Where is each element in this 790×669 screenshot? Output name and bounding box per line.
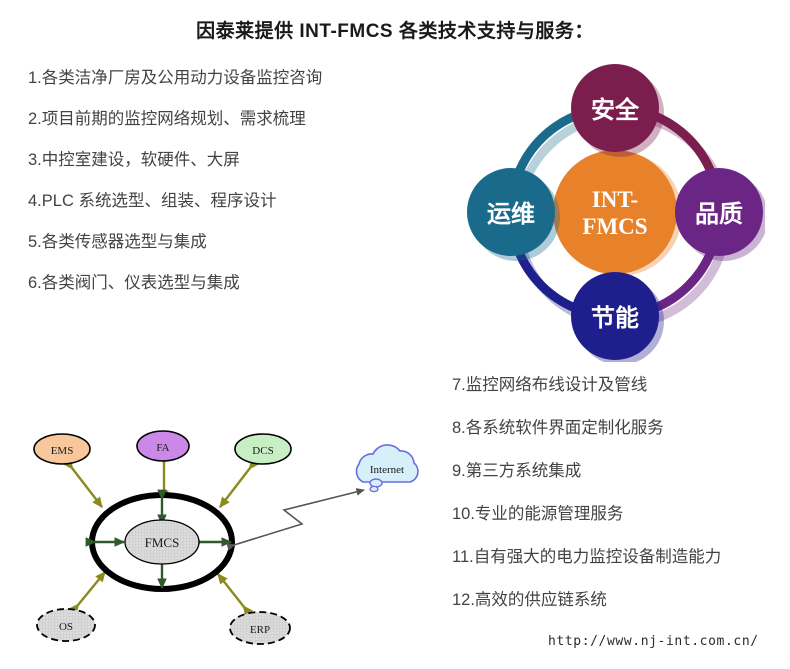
diagram-node-os[interactable]: OS bbox=[37, 609, 95, 641]
arrow-erp bbox=[218, 574, 244, 607]
watermark-url: http://www.nj-int.com.cn/ bbox=[548, 634, 759, 649]
circle-node-pinzhi[interactable]: 品质 bbox=[675, 168, 765, 261]
list-item: 11.自有强大的电力监控设备制造能力 bbox=[452, 547, 782, 568]
list-item: 2.项目前期的监控网络规划、需求梳理 bbox=[28, 109, 428, 130]
diagram-node-ems[interactable]: EMS bbox=[34, 434, 90, 464]
service-list-left: 1.各类洁净厂房及公用动力设备监控咨询 2.项目前期的监控网络规划、需求梳理 3… bbox=[28, 68, 428, 314]
list-item: 4.PLC 系统选型、组装、程序设计 bbox=[28, 191, 428, 212]
diagram-node-dcs[interactable]: DCS bbox=[235, 434, 291, 464]
circle-node-label: 节能 bbox=[591, 304, 639, 332]
list-item: 12.高效的供应链系统 bbox=[452, 590, 782, 611]
service-list-right: 7.监控网络布线设计及管线 8.各系统软件界面定制化服务 9.第三方系统集成 1… bbox=[452, 375, 782, 633]
diagram-node-label: DCS bbox=[252, 445, 273, 457]
list-item: 5.各类传感器选型与集成 bbox=[28, 232, 428, 253]
internet-cloud-icon: Internet bbox=[356, 445, 417, 492]
center-label-line1: INT- bbox=[592, 187, 638, 212]
diagram-node-label: ERP bbox=[250, 624, 270, 636]
diagram-node-label: EMS bbox=[51, 445, 74, 457]
arrow-os bbox=[78, 572, 105, 605]
arrow-internet-link bbox=[234, 490, 364, 545]
circle-node-jieneng[interactable]: 节能 bbox=[571, 272, 664, 362]
page-root: 因泰莱提供 INT-FMCS 各类技术支持与服务： 1.各类洁净厂房及公用动力设… bbox=[0, 0, 790, 669]
list-item: 9.第三方系统集成 bbox=[452, 461, 782, 482]
arrow-ems bbox=[72, 468, 102, 507]
circle-node-anquan[interactable]: 安全 bbox=[571, 64, 664, 157]
circle-node-label: 安全 bbox=[591, 96, 640, 124]
diagram-node-label: FA bbox=[156, 442, 169, 454]
list-item: 8.各系统软件界面定制化服务 bbox=[452, 418, 782, 439]
list-item: 3.中控室建设，软硬件、大屏 bbox=[28, 150, 428, 171]
list-item: 6.各类阀门、仪表选型与集成 bbox=[28, 273, 428, 294]
fmcs-center-label: FMCS bbox=[145, 535, 180, 550]
fmcs-architecture-diagram: FMCS EMS FA DCS OS bbox=[12, 412, 432, 662]
page-title: 因泰莱提供 INT-FMCS 各类技术支持与服务： bbox=[0, 16, 790, 43]
diagram-node-label: OS bbox=[59, 621, 73, 633]
diagram-node-fa[interactable]: FA bbox=[137, 431, 189, 461]
center-circle bbox=[553, 150, 677, 274]
circle-node-yunwei[interactable]: 运维 bbox=[467, 168, 560, 261]
arrow-dcs bbox=[220, 468, 250, 507]
list-item: 1.各类洁净厂房及公用动力设备监控咨询 bbox=[28, 68, 428, 89]
int-fmcs-circle-graphic: INT- FMCS 安全 品质 节能 bbox=[465, 62, 765, 362]
diagram-node-erp[interactable]: ERP bbox=[230, 612, 290, 644]
internet-cloud-label: Internet bbox=[370, 464, 404, 476]
circle-node-label: 品质 bbox=[695, 201, 743, 228]
list-item: 10.专业的能源管理服务 bbox=[452, 504, 782, 525]
circle-node-label: 运维 bbox=[487, 200, 535, 228]
list-item: 7.监控网络布线设计及管线 bbox=[452, 375, 782, 396]
center-label-line2: FMCS bbox=[582, 214, 647, 239]
